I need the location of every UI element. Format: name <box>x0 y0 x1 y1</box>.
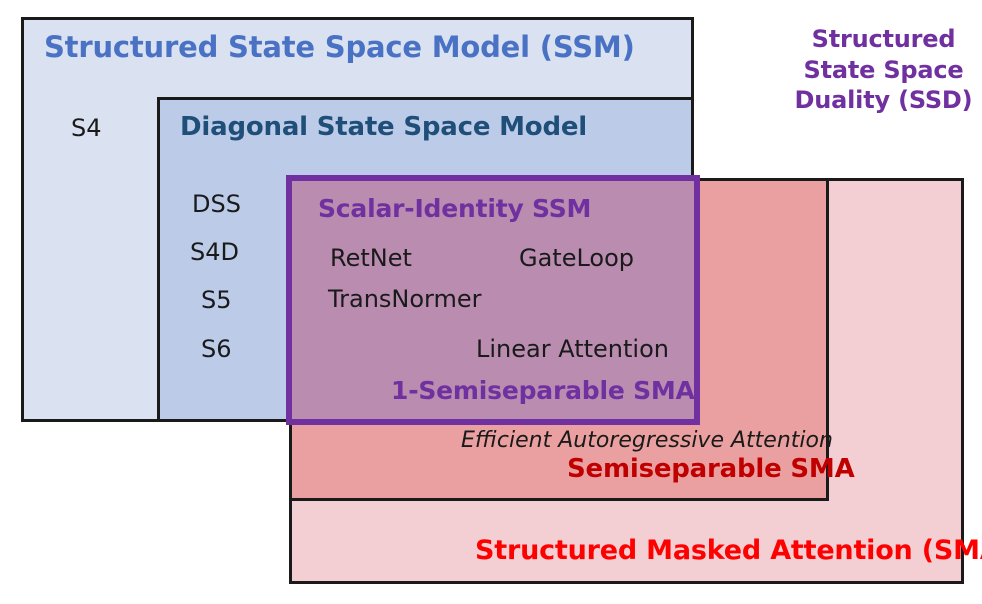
ssd-line-3: Duality (SSD) <box>795 86 973 114</box>
label-one-semiseparable-sma-subtitle: 1-Semiseparable SMA <box>391 378 695 403</box>
ssd-line-2: State Space <box>803 56 963 84</box>
label-semiseparable-sma-title: Semiseparable SMA <box>567 456 855 482</box>
label-structured-state-space-duality-title: Structured State Space Duality (SSD) <box>791 24 976 116</box>
model-label-s6: S6 <box>201 337 232 361</box>
label-structured-masked-attention-title: Structured Masked Attention (SMA) <box>475 537 982 564</box>
model-label-linear-attention: Linear Attention <box>476 337 669 361</box>
label-efficient-autoregressive-attention-subtitle: Efficient Autoregressive Attention <box>461 430 833 452</box>
model-label-gateloop: GateLoop <box>519 246 634 270</box>
model-label-s4: S4 <box>71 116 102 140</box>
model-label-s4d: S4D <box>190 240 239 264</box>
model-label-transnormer: TransNormer <box>328 287 482 311</box>
label-structured-state-space-model-title: Structured State Space Model (SSM) <box>44 33 635 62</box>
model-label-dss: DSS <box>192 192 241 216</box>
label-scalar-identity-ssm-title: Scalar-Identity SSM <box>318 196 591 221</box>
diagram-canvas: Structured State Space Model (SSM) Diago… <box>0 0 982 604</box>
model-label-s5: S5 <box>201 288 232 312</box>
label-diagonal-state-space-model-title: Diagonal State Space Model <box>180 114 587 140</box>
model-label-retnet: RetNet <box>330 246 412 270</box>
ssd-line-1: Structured <box>812 25 956 53</box>
